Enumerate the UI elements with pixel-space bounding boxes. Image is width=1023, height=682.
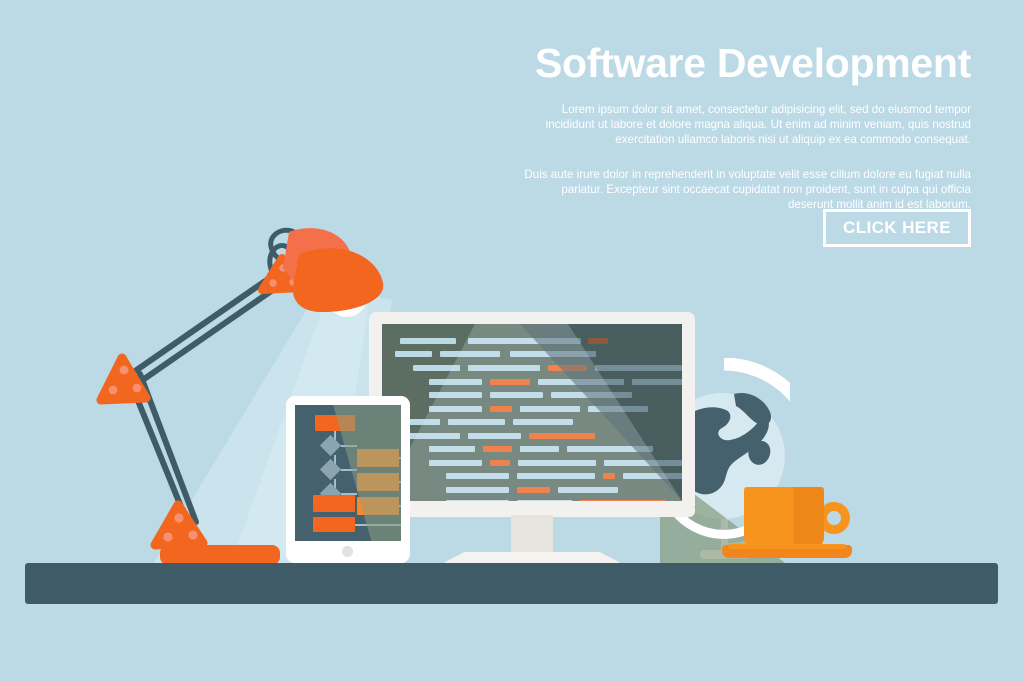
code-line-segment (400, 338, 456, 344)
code-line-segment (395, 351, 432, 357)
tablet-device (286, 396, 410, 563)
page-title: Software Development (521, 40, 971, 86)
tablet-screen[interactable] (295, 405, 401, 541)
hero-text-block: Software Development Lorem ipsum dolor s… (521, 40, 971, 212)
monitor-screen[interactable] (382, 324, 682, 501)
hero-paragraph-1: Lorem ipsum dolor sit amet, consectetur … (521, 102, 971, 148)
click-here-button[interactable]: CLICK HERE (823, 209, 971, 247)
cup-saucer-top (728, 544, 846, 549)
monitor-stand-base (443, 552, 621, 563)
flowchart-decision-2 (320, 459, 341, 480)
monitor-stand-neck (511, 515, 553, 555)
flowchart-action-node (313, 495, 355, 512)
tablet-home-button[interactable] (342, 546, 353, 557)
desktop-monitor (369, 312, 695, 512)
coffee-cup (722, 482, 852, 564)
illustration-canvas: Software Development Lorem ipsum dolor s… (0, 0, 1023, 682)
flowchart-decision-1 (320, 435, 341, 456)
flowchart-end-node (313, 517, 355, 532)
hero-paragraph-2: Duis aute irure dolor in reprehenderit i… (521, 167, 971, 213)
desk-surface (25, 563, 998, 604)
